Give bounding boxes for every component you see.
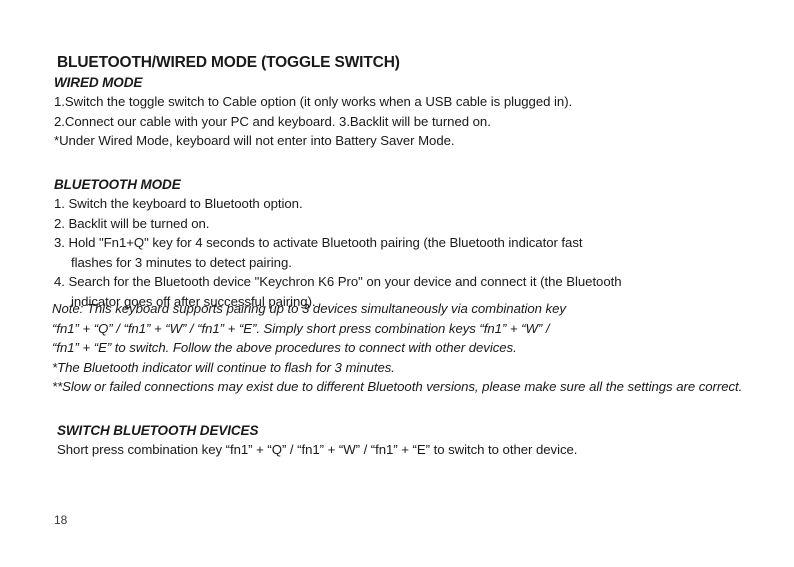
switch-devices-instruction: Short press combination key “fn1” + “Q” … (57, 442, 577, 457)
section-heading-wired-mode: WIRED MODE (54, 75, 142, 90)
section-heading-switch-bluetooth-devices: SWITCH BLUETOOTH DEVICES (57, 423, 258, 438)
wired-step-2: 2.Connect our cable with your PC and key… (54, 114, 335, 129)
note-line-3: “fn1” + “E” to switch. Follow the above … (52, 340, 517, 355)
wired-mode-steps: 1.Switch the toggle switch to Cable opti… (54, 92, 794, 151)
wired-mode-footnote: *Under Wired Mode, keyboard will not ent… (54, 133, 455, 148)
note-line-1: Note: This keyboard supports pairing up … (52, 301, 566, 316)
bluetooth-step-1: 1. Switch the keyboard to Bluetooth opti… (54, 194, 622, 214)
bluetooth-step-2: 2. Backlit will be turned on. (54, 214, 622, 234)
note-single-asterisk: *The Bluetooth indicator will continue t… (52, 360, 395, 375)
bluetooth-mode-notes: Note: This keyboard supports pairing up … (52, 299, 794, 397)
wired-step-3: 3.Backlit will be turned on. (339, 114, 491, 129)
bluetooth-mode-steps: 1. Switch the keyboard to Bluetooth opti… (54, 194, 622, 312)
page-number: 18 (54, 513, 67, 527)
section-heading-bluetooth-mode: BLUETOOTH MODE (54, 177, 181, 192)
switch-devices-body: Short press combination key “fn1” + “Q” … (57, 440, 577, 460)
manual-page: BLUETOOTH/WIRED MODE (TOGGLE SWITCH) WIR… (0, 0, 794, 567)
note-double-asterisk-line-1: **Slow or failed connections may exist d… (52, 379, 624, 394)
page-title: BLUETOOTH/WIRED MODE (TOGGLE SWITCH) (57, 54, 400, 72)
bluetooth-step-3: 3. Hold "Fn1+Q" key for 4 seconds to act… (54, 233, 622, 272)
note-double-asterisk-line-2: settings are correct. (628, 379, 743, 394)
note-line-2: “fn1” + “Q” / “fn1” + “W” / “fn1” + “E”.… (52, 321, 549, 336)
wired-step-1: 1.Switch the toggle switch to Cable opti… (54, 94, 572, 109)
